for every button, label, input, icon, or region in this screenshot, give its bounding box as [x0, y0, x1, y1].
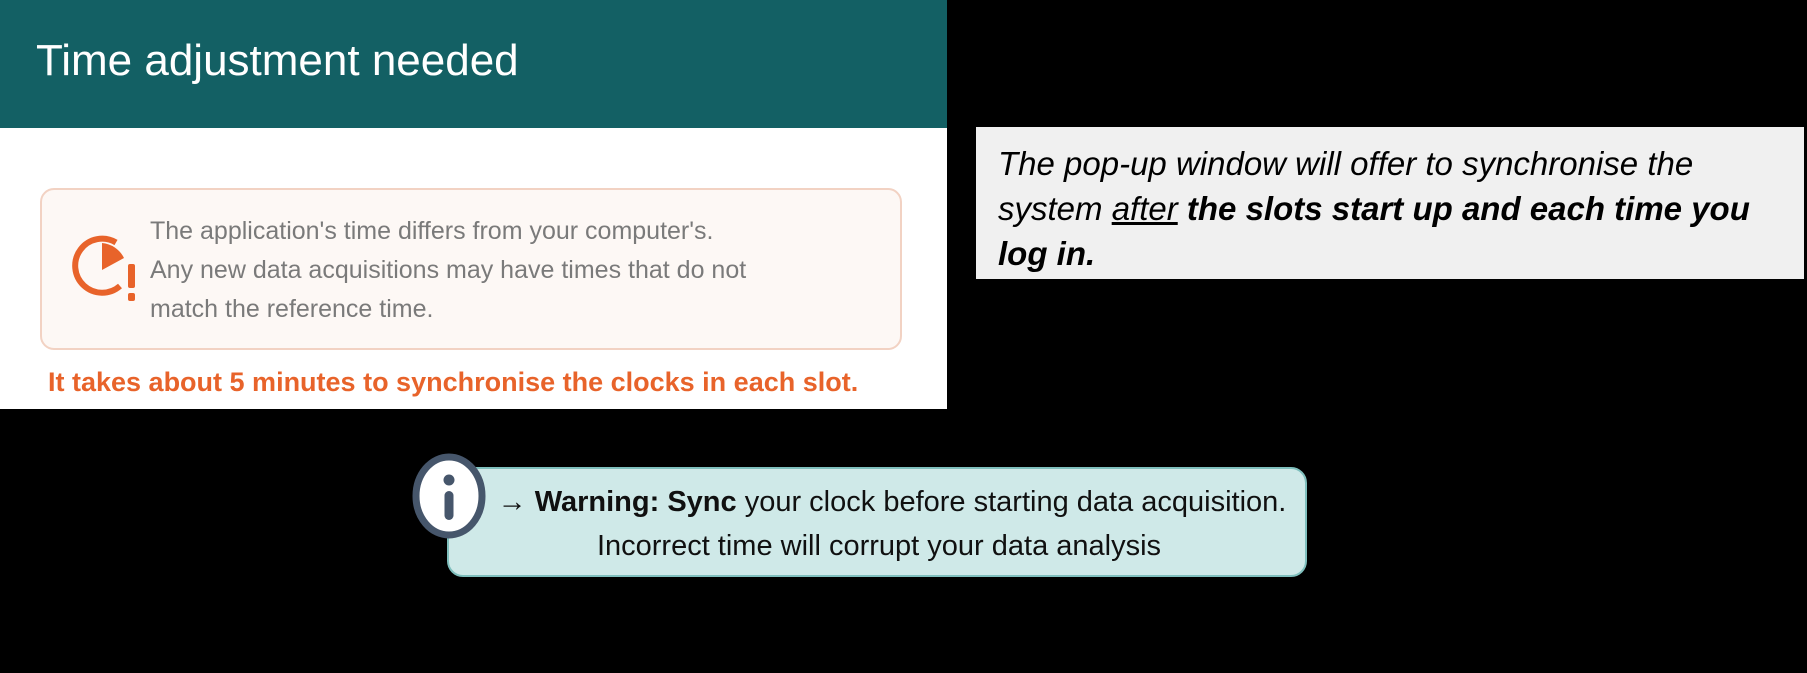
warning-callout-line-1: → Warning: Sync your clock before starti…	[449, 480, 1309, 524]
popup-note-segment-underlined: after	[1112, 190, 1178, 227]
popup-note-segment-space	[1178, 190, 1187, 227]
time-mismatch-alert-card: The application's time differs from your…	[40, 188, 902, 350]
warning-line-1-rest: your clock before starting data acquisit…	[737, 486, 1287, 518]
warning-callout-text: → Warning: Sync your clock before starti…	[449, 480, 1309, 568]
time-adjustment-dialog: Time adjustment needed The application's…	[0, 0, 947, 409]
alert-message-line-2: Any new data acquisitions may have times…	[150, 251, 870, 290]
warning-callout-line-2: Incorrect time will corrupt your data an…	[449, 524, 1309, 568]
alert-message-line-1: The application's time differs from your…	[150, 212, 870, 251]
warning-label: Warning: Sync	[535, 486, 737, 518]
sync-duration-note: It takes about 5 minutes to synchronise …	[48, 367, 858, 398]
warning-arrow-glyph: →	[498, 486, 535, 518]
alert-message-line-3: match the reference time.	[150, 290, 870, 329]
clock-alert-icon	[68, 234, 142, 308]
popup-behaviour-annotation: The pop-up window will offer to synchron…	[976, 127, 1804, 279]
dialog-titlebar: Time adjustment needed	[0, 0, 947, 128]
info-icon	[410, 452, 488, 540]
dialog-title: Time adjustment needed	[36, 36, 519, 86]
popup-behaviour-text: The pop-up window will offer to synchron…	[998, 141, 1782, 276]
alert-message: The application's time differs from your…	[150, 212, 870, 329]
warning-callout: → Warning: Sync your clock before starti…	[447, 467, 1307, 577]
